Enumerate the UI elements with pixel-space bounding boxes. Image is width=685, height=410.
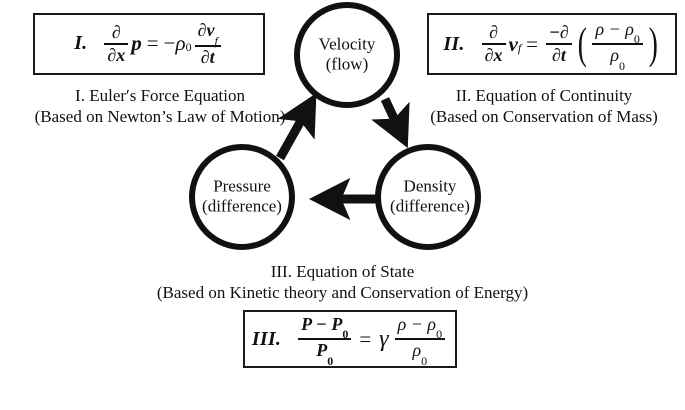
node-label-density: Density (difference)	[390, 177, 470, 218]
caption-3-line-1: III. Equation of State	[0, 262, 685, 283]
caption-equation-3: III. Equation of State (Based on Kinetic…	[0, 262, 685, 303]
node-pressure-line-1: Pressure	[202, 177, 282, 197]
node-density-line-2: (difference)	[390, 197, 470, 217]
node-velocity-line-1: Velocity	[319, 35, 376, 55]
node-velocity-line-2: (flow)	[319, 55, 376, 75]
p-zero-denominator: P0	[313, 341, 336, 363]
arrow-pressure-to-velocity	[280, 101, 312, 158]
caption-3-line-2: (Based on Kinetic theory and Conservatio…	[0, 283, 685, 304]
density-ratio-fraction: ρ − ρ0 ρ0	[395, 315, 445, 363]
pressure-difference-numerator: P − P0	[298, 315, 351, 337]
equation-box-3: III. P − P0 P0 = γ ρ − ρ0 ρ0	[243, 310, 457, 368]
pressure-ratio-fraction: P − P0 P0	[298, 315, 351, 363]
equation-3-content: III. P − P0 P0 = γ ρ − ρ0 ρ0	[252, 315, 448, 363]
node-label-velocity: Velocity (flow)	[319, 35, 376, 76]
node-pressure-line-2: (difference)	[202, 197, 282, 217]
node-label-pressure: Pressure (difference)	[202, 177, 282, 218]
gamma-symbol: γ	[379, 326, 388, 353]
node-density-line-1: Density	[390, 177, 470, 197]
equation-3-expression: P − P0 P0 = γ ρ − ρ0 ρ0	[295, 315, 448, 363]
arrow-velocity-to-density	[385, 99, 404, 140]
density-difference-numerator: ρ − ρ0	[395, 315, 445, 337]
figure-canvas: I. ∂ ∂x p = − ρ0 ∂vf ∂t II.	[0, 0, 685, 410]
equals-sign: =	[359, 327, 371, 352]
rho-zero-denominator: ρ0	[410, 341, 431, 363]
equation-3-label: III.	[252, 328, 281, 351]
